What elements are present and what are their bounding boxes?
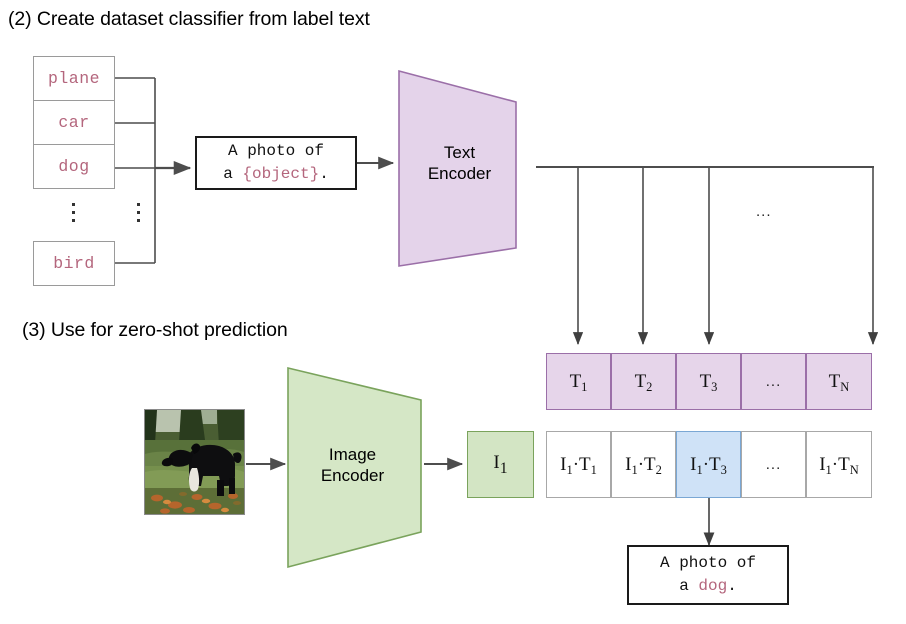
wire-column-ellipsis-icon xyxy=(132,203,144,227)
text-embedding-cell-1-label: T1 xyxy=(570,371,588,393)
similarity-cell-2-label: I1·T2 xyxy=(625,454,662,476)
image-encoder-label: Image Encoder xyxy=(321,444,384,486)
similarity-cell-3-highlighted[interactable]: I1·T3 xyxy=(676,431,741,498)
label-box-plane[interactable]: plane xyxy=(33,56,115,101)
prompt-line2-prefix: a xyxy=(223,165,242,183)
bus-ellipsis: ... xyxy=(756,203,772,220)
label-text-plane: plane xyxy=(48,69,100,88)
prediction-box: A photo of a dog. xyxy=(627,545,789,605)
image-embedding-label: I1 xyxy=(493,452,507,478)
text-encoder-line2: Encoder xyxy=(428,163,491,184)
prediction-line2-prefix: a xyxy=(679,577,698,595)
section-title-2: (2) Create dataset classifier from label… xyxy=(8,8,370,31)
label-box-bird[interactable]: bird xyxy=(33,241,115,286)
prompt-line-2: a {object}. xyxy=(223,163,329,186)
label-text-dog: dog xyxy=(58,157,89,176)
text-embedding-row: T1 T2 T3 ... TN xyxy=(546,353,872,410)
similarity-cell-ellipsis: ... xyxy=(741,431,806,498)
text-embedding-ellipsis: ... xyxy=(766,373,782,390)
prediction-line2-suffix: . xyxy=(727,577,737,595)
image-encoder[interactable]: Image Encoder xyxy=(305,440,400,490)
text-embedding-cell-ellipsis: ... xyxy=(741,353,806,410)
similarity-cell-3-label: I1·T3 xyxy=(690,454,727,476)
label-box-car[interactable]: car xyxy=(33,100,115,145)
input-photo[interactable] xyxy=(144,409,245,515)
text-embedding-cell-3-label: T3 xyxy=(700,371,718,393)
text-embedding-cell-1: T1 xyxy=(546,353,611,410)
photo-content-icon xyxy=(145,410,244,514)
prompt-line-1: A photo of xyxy=(228,140,324,163)
text-embedding-cell-3: T3 xyxy=(676,353,741,410)
text-encoder-line1: Text xyxy=(428,142,491,163)
section-title-3: (3) Use for zero-shot prediction xyxy=(22,319,288,342)
text-encoder-label: Text Encoder xyxy=(428,142,491,184)
image-embedding-box: I1 xyxy=(467,431,534,498)
image-encoder-line1: Image xyxy=(321,444,384,465)
similarity-cell-1[interactable]: I1·T1 xyxy=(546,431,611,498)
prediction-slot-dog: dog xyxy=(698,577,727,595)
clip-diagram-canvas: (2) Create dataset classifier from label… xyxy=(0,0,906,624)
connector-layer xyxy=(0,0,906,624)
similarity-cell-n[interactable]: I1·TN xyxy=(806,431,872,498)
similarity-cell-1-label: I1·T1 xyxy=(560,454,597,476)
similarity-cell-2[interactable]: I1·T2 xyxy=(611,431,676,498)
text-embedding-cell-n-label: TN xyxy=(829,371,850,393)
prompt-slot-object: {object} xyxy=(242,165,319,183)
prediction-line-1: A photo of xyxy=(660,552,756,575)
prompt-template-box[interactable]: A photo of a {object}. xyxy=(195,136,357,190)
text-encoder[interactable]: Text Encoder xyxy=(412,138,507,188)
similarity-row: I1·T1 I1·T2 I1·T3 ... I1·TN xyxy=(546,431,872,498)
similarity-cell-n-label: I1·TN xyxy=(819,454,859,476)
label-text-bird: bird xyxy=(53,254,95,273)
image-encoder-line2: Encoder xyxy=(321,465,384,486)
text-embedding-cell-2: T2 xyxy=(611,353,676,410)
label-text-car: car xyxy=(58,113,89,132)
similarity-ellipsis: ... xyxy=(766,456,782,473)
text-embedding-cell-2-label: T2 xyxy=(635,371,653,393)
text-embedding-cell-n: TN xyxy=(806,353,872,410)
prediction-line-2: a dog. xyxy=(679,575,737,598)
prompt-line2-suffix: . xyxy=(319,165,329,183)
label-column-ellipsis-icon xyxy=(67,203,79,227)
label-box-dog[interactable]: dog xyxy=(33,144,115,189)
